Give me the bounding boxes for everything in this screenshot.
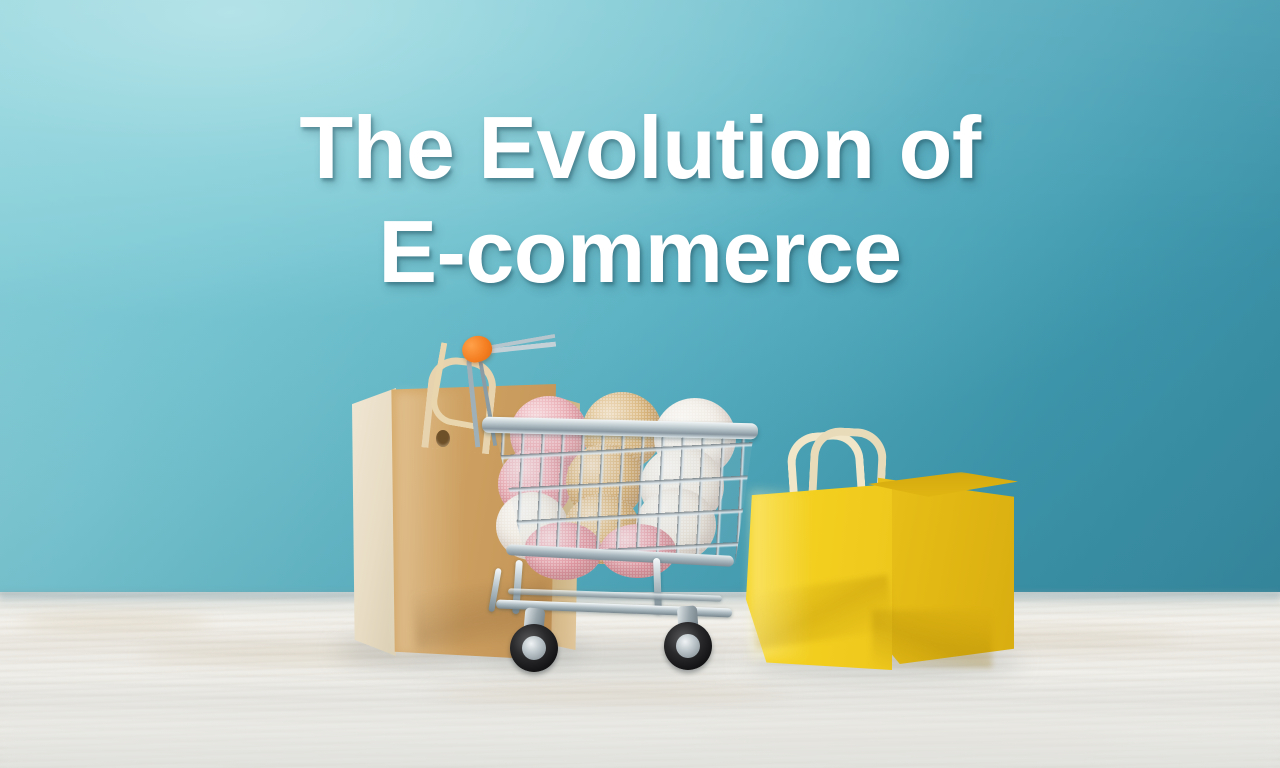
cart-wheel-front bbox=[510, 624, 558, 672]
cart-wheel-rear bbox=[664, 622, 712, 670]
cart-basket bbox=[486, 428, 754, 564]
wood-blotch bbox=[20, 614, 210, 630]
shopping-cart bbox=[468, 336, 768, 666]
yellow-paper-bag bbox=[746, 468, 1014, 672]
basket-mesh-horizontal bbox=[486, 428, 754, 564]
kraft-bag-side-panel bbox=[352, 388, 396, 656]
table-foreground-blur bbox=[0, 676, 1280, 768]
hero-banner-image: The Evolution of E-commerce bbox=[0, 0, 1280, 768]
yellow-bag-crease-side bbox=[872, 610, 992, 668]
